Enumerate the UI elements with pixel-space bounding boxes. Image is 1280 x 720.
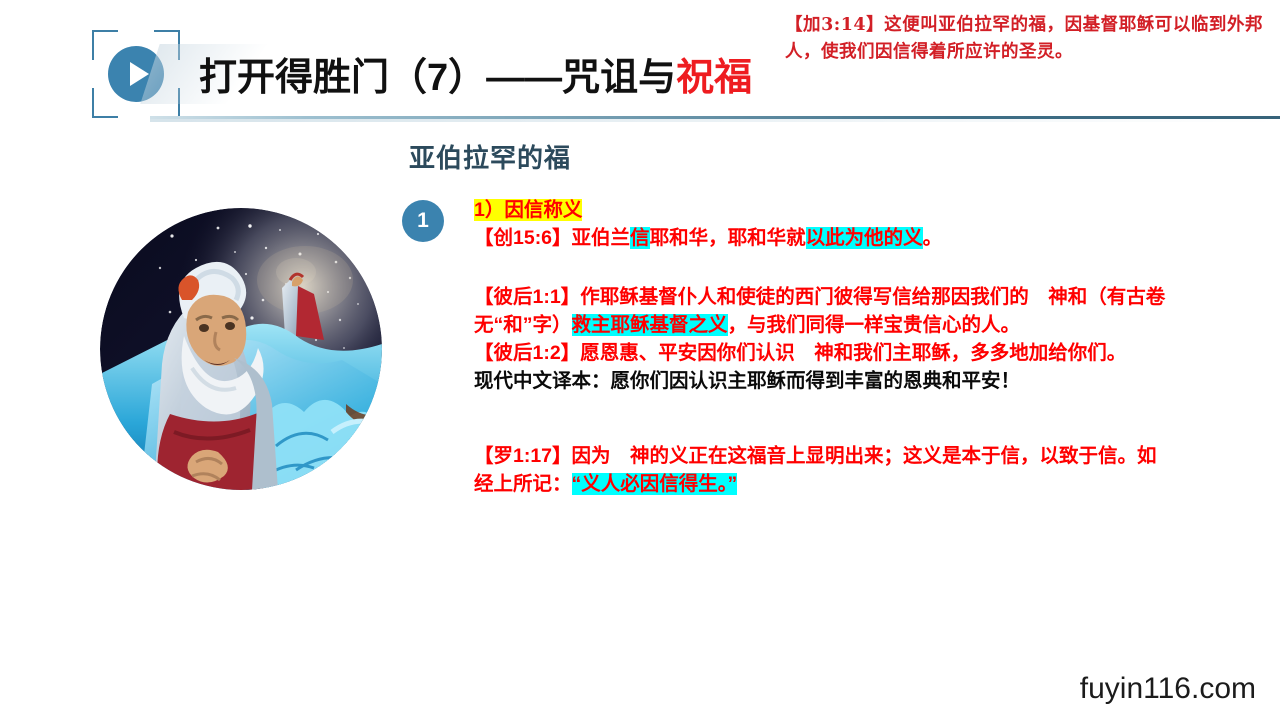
verse-2pet-1-1: 【彼后1:1】作耶稣基督仆人和使徒的西门彼得写信给那因我们的 神和（有古卷无“和… — [474, 283, 1174, 340]
modern-chinese-version: 现代中文译本：愿你们因认识主耶稣而得到丰富的恩典和平安！ — [474, 367, 1174, 395]
verse-2pet1-highlight: 救主耶稣基督之义 — [572, 314, 728, 336]
verse-gen-seg2: 耶和华，耶和华就 — [650, 227, 806, 249]
abraham-starry-sky-illustration — [100, 208, 382, 490]
point-title: 1）因信称义 — [474, 196, 1174, 224]
page-title-main: 打开得胜门（7）——咒诅与 — [199, 57, 676, 99]
section-subtitle: 亚伯拉罕的福 — [409, 138, 571, 175]
verse-2pet1-seg2: ，与我们同得一样宝贵信心的人。 — [728, 314, 1021, 336]
verse-ref-2pet2: 【彼后1:2】 — [474, 342, 580, 364]
spacer-1 — [474, 253, 1174, 283]
verse-gen-highlight1: 信 — [630, 227, 650, 249]
page-title-accent: 祝福 — [676, 57, 752, 99]
spacer-2 — [474, 396, 1174, 442]
verse-gen-seg1: 亚伯兰 — [572, 227, 631, 249]
header-scripture-quote: 【加3:14】这便叫亚伯拉罕的福，因基督耶稣可以临到外邦人，使我们因信得着所应许… — [785, 12, 1263, 66]
header-divider-shadow — [150, 119, 1280, 122]
scripture-content-block: 1）因信称义 【创15:6】亚伯兰信耶和华，耶和华就以此为他的义。 【彼后1:1… — [474, 196, 1174, 498]
point-title-text: 1）因信称义 — [474, 199, 582, 221]
play-button-icon[interactable] — [108, 46, 164, 102]
verse-2pet-1-2: 【彼后1:2】愿恩惠、平安因你们认识 神和我们主耶稣，多多地加给你们。 — [474, 339, 1174, 367]
verse-gen-highlight2: 以此为他的义 — [806, 227, 923, 249]
page-title: 打开得胜门（7）——咒诅与祝福 — [199, 46, 752, 101]
verse-gen-15-6: 【创15:6】亚伯兰信耶和华，耶和华就以此为他的义。 — [474, 224, 1174, 252]
verse-ref-2pet1: 【彼后1:1】 — [474, 286, 580, 308]
site-watermark: fuyin116.com — [1080, 672, 1256, 706]
verse-gen-seg3: 。 — [923, 227, 943, 249]
verse-rom-highlight: “义人必因信得生。” — [572, 473, 738, 495]
slide-canvas: 打开得胜门（7）——咒诅与祝福 【加3:14】这便叫亚伯拉罕的福，因基督耶稣可以… — [0, 0, 1280, 720]
point-number-badge: 1 — [402, 200, 444, 242]
play-triangle-icon — [130, 62, 149, 86]
verse-ref-gen: 【创15:6】 — [474, 227, 572, 249]
verse-rom-1-17: 【罗1:17】因为 神的义正在这福音上显明出来；这义是本于信，以致于信。如经上所… — [474, 442, 1174, 499]
verse-2pet2-text: 愿恩惠、平安因你们认识 神和我们主耶稣，多多地加给你们。 — [580, 342, 1126, 364]
verse-ref-rom: 【罗1:17】 — [474, 445, 572, 467]
